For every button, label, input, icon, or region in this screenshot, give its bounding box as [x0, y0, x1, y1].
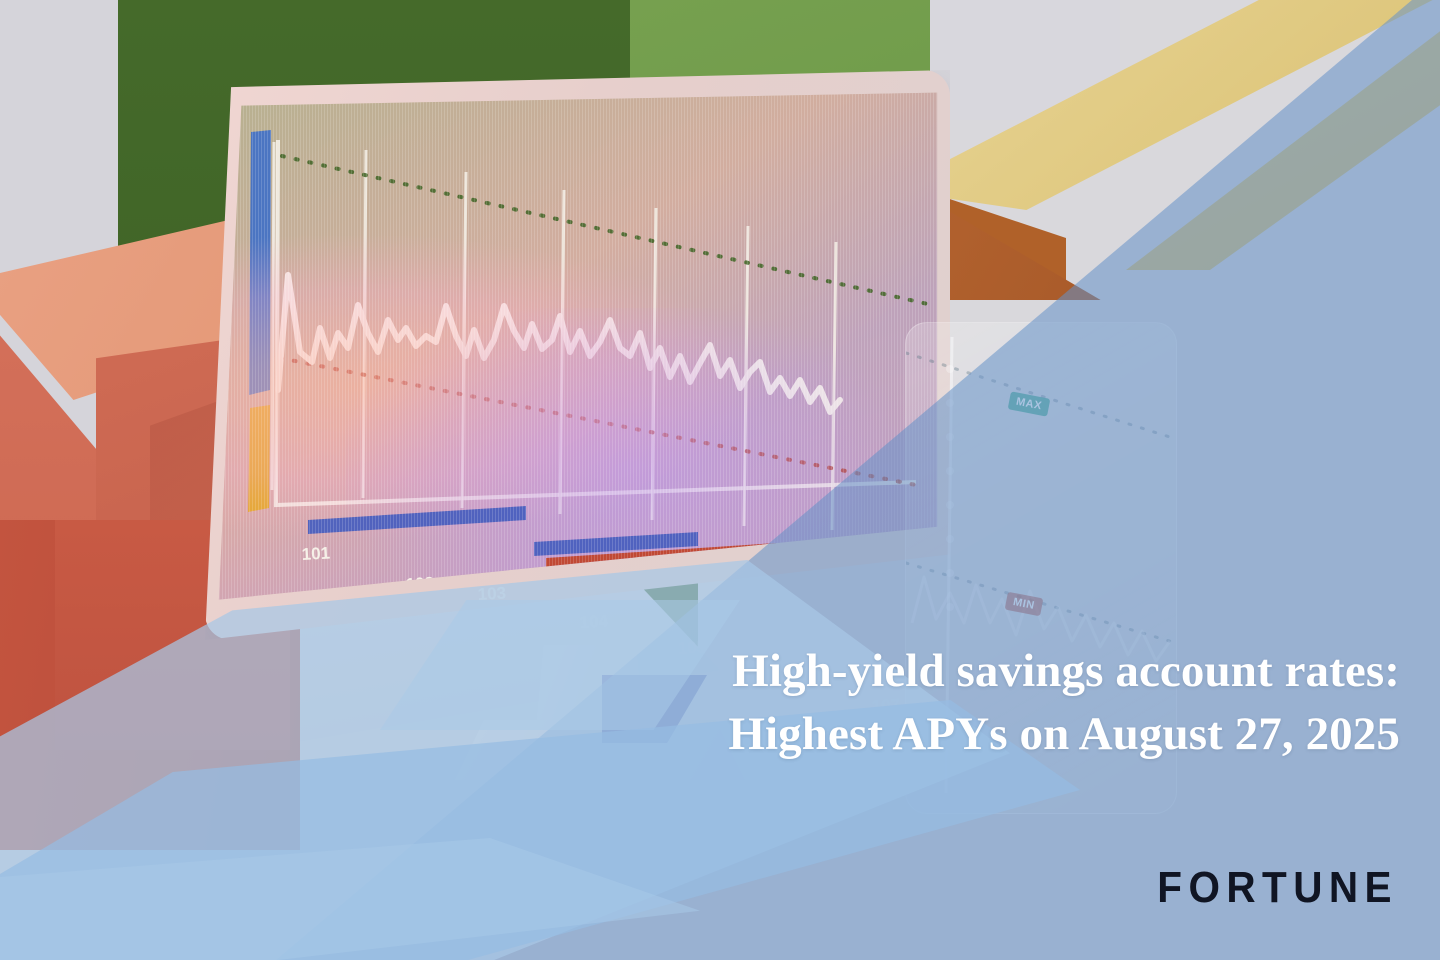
article-hero-image: 101 102 103 104 105 107 108: [0, 0, 1440, 960]
bar-label-101: 101: [301, 543, 330, 564]
fortune-logo: FORTUNE: [112, 863, 1398, 913]
page-title: High-yield savings account rates: Highes…: [0, 640, 1400, 766]
headline-line-1: High-yield savings account rates:: [0, 640, 1400, 703]
bar-row-101: [308, 506, 526, 534]
headline-line-2: Highest APYs on August 27, 2025: [0, 703, 1400, 766]
